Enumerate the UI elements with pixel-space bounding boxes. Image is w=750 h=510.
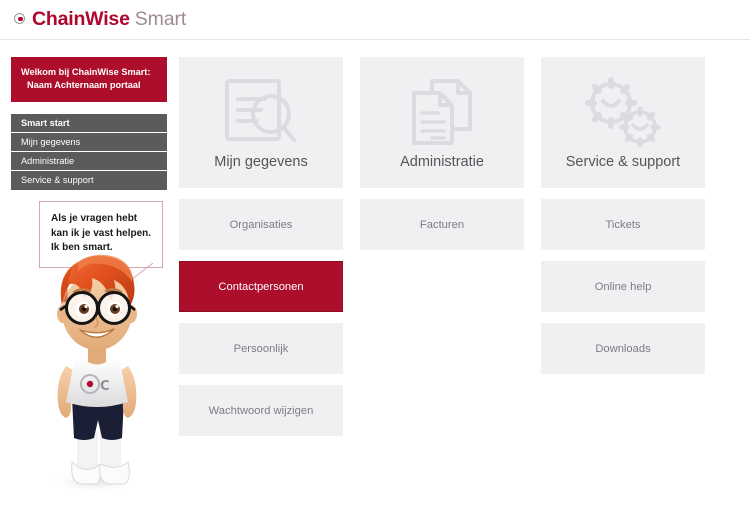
tile-label: Administratie [360, 154, 524, 170]
tile-label: Online help [595, 281, 652, 293]
sidebar-item-administratie[interactable]: Administratie [11, 152, 167, 171]
sidebar-item-label: Mijn gegevens [21, 137, 80, 147]
sidebar-menu: Smart start Mijn gegevens Administratie … [11, 114, 167, 190]
brand-name-secondary: Smart [135, 8, 187, 31]
welcome-line-1: Welkom bij ChainWise Smart: [21, 67, 150, 77]
brand-name-primary: ChainWise [32, 8, 130, 31]
welcome-line-2: Naam Achternaam portaal [21, 79, 157, 92]
tile-label: Mijn gegevens [179, 154, 343, 170]
tile-label: Organisaties [230, 219, 293, 231]
document-search-icon [179, 77, 343, 149]
tile-administratie[interactable]: Administratie [360, 57, 524, 188]
tile-label: Persoonlijk [234, 343, 289, 355]
tile-facturen[interactable]: Facturen [360, 199, 524, 250]
welcome-banner: Welkom bij ChainWise Smart: Naam Achtern… [11, 57, 167, 102]
tile-contactpersonen[interactable]: Contactpersonen [179, 261, 343, 312]
sidebar-item-mijn-gegevens[interactable]: Mijn gegevens [11, 133, 167, 152]
tile-mijn-gegevens[interactable]: Mijn gegevens [179, 57, 343, 188]
chainwise-circle-dot-icon [14, 13, 27, 26]
tile-organisaties[interactable]: Organisaties [179, 199, 343, 250]
brand-logo[interactable]: ChainWise Smart [14, 6, 186, 32]
tile-label: Service & support [541, 154, 705, 170]
tile-tickets[interactable]: Tickets [541, 199, 705, 250]
smart-boy-mascot: C [22, 250, 172, 505]
tile-label: Tickets [605, 219, 640, 231]
tile-label: Wachtwoord wijzigen [209, 405, 314, 417]
app-header: ChainWise Smart [0, 0, 750, 40]
tile-online-help[interactable]: Online help [541, 261, 705, 312]
tile-service-support[interactable]: Service & support [541, 57, 705, 188]
tile-label: Facturen [420, 219, 464, 231]
sidebar-item-smart-start[interactable]: Smart start [11, 114, 167, 133]
tile-downloads[interactable]: Downloads [541, 323, 705, 374]
tile-label: Downloads [595, 343, 650, 355]
sidebar: Welkom bij ChainWise Smart: Naam Achtern… [11, 57, 167, 190]
speech-bubble-text: Als je vragen hebt kan ik je vast helpen… [51, 212, 153, 256]
sidebar-item-label: Administratie [21, 156, 74, 166]
sidebar-item-service-support[interactable]: Service & support [11, 171, 167, 190]
gears-smiley-icon [541, 77, 705, 151]
tile-persoonlijk[interactable]: Persoonlijk [179, 323, 343, 374]
sidebar-item-label: Service & support [21, 175, 94, 185]
column-mijn-gegevens: Mijn gegevens Organisaties Contactperson… [179, 57, 343, 436]
svg-text:C: C [100, 379, 110, 394]
column-administratie: Administratie Facturen [360, 57, 524, 250]
tile-wachtwoord-wijzigen[interactable]: Wachtwoord wijzigen [179, 385, 343, 436]
sidebar-item-label: Smart start [21, 118, 70, 128]
documents-stack-icon [360, 77, 524, 149]
tile-label: Contactpersonen [218, 281, 303, 293]
column-service-support: Service & support Tickets Online help Do… [541, 57, 705, 374]
